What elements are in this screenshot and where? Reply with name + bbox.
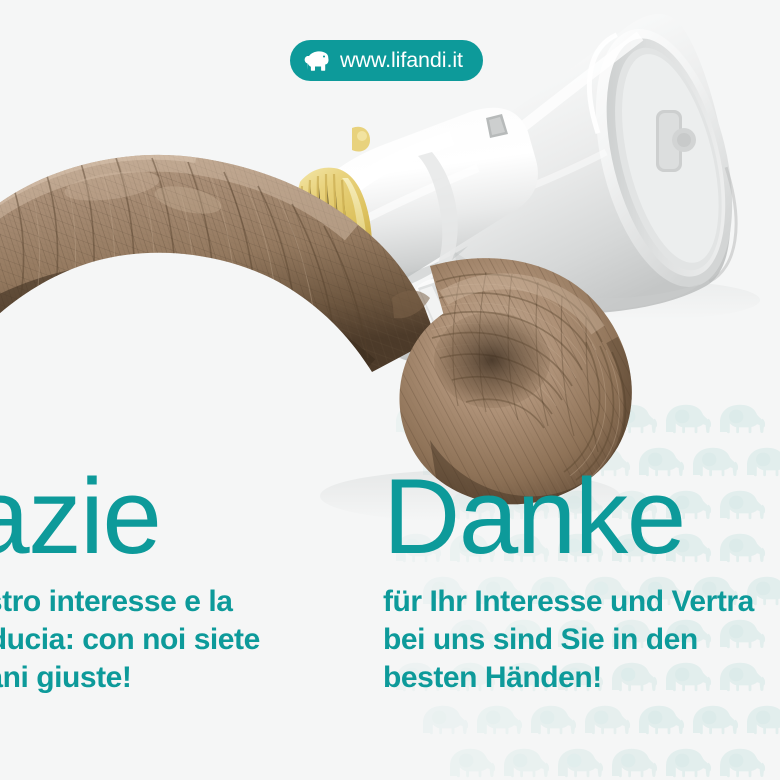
german-message-column: Danke für Ihr Interesse und Vertra bei u… [383,466,780,697]
message-text-layer: razie l vostro interesse e la ra fiducia… [0,0,780,780]
italian-body: l vostro interesse e la ra fiducia: con … [0,566,336,697]
italian-message-column: razie l vostro interesse e la ra fiducia… [0,466,336,697]
italian-body-line-3: e mani giuste! [0,659,336,697]
brand-url-badge[interactable]: www.lifandi.it [290,40,483,81]
german-body-line-2: bei uns sind Sie in den [383,621,780,659]
elephant-icon [304,50,329,71]
promo-banner: www.lifandi.it razie l vostro interesse … [0,0,780,780]
german-body-line-3: besten Händen! [383,659,780,697]
italian-body-line-1: l vostro interesse e la [0,583,336,621]
german-body-line-1: für Ihr Interesse und Vertra [383,583,780,621]
german-headline: Danke [383,466,780,566]
italian-headline: razie [0,466,336,566]
german-body: für Ihr Interesse und Vertra bei uns sin… [383,566,780,697]
italian-body-line-2: ra fiducia: con noi siete [0,621,336,659]
badge-url-text: www.lifandi.it [340,50,463,72]
